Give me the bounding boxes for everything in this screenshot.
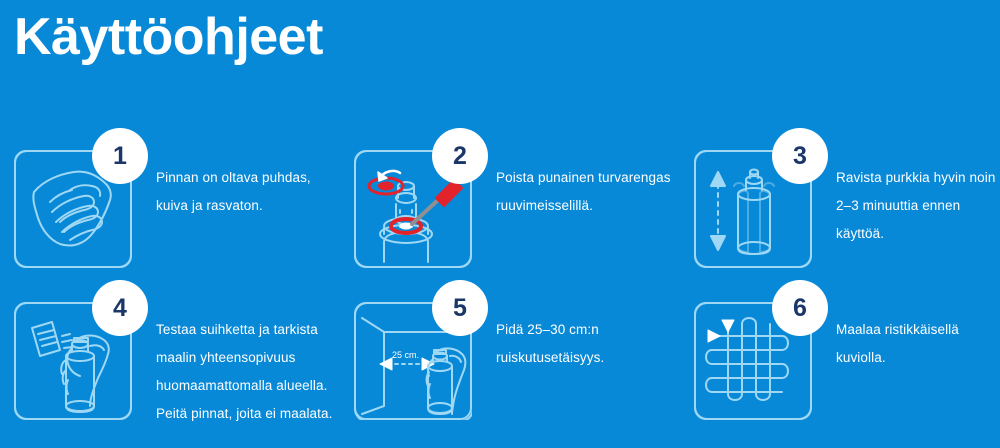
step-number-1: 1 bbox=[113, 144, 127, 169]
step-item-3: 3 Ravista purkkia hyvin noin 2–3 minuutt… bbox=[680, 128, 1000, 280]
step-number-badge-2: 2 bbox=[432, 128, 488, 184]
step-item-6: 6 Maalaa ristikkäisellä kuviolla. bbox=[680, 280, 1000, 440]
step-text-5: Pidä 25–30 cm:n ruiskutusetäisyys. bbox=[496, 316, 676, 372]
distance-label: 25 cm. bbox=[392, 350, 419, 360]
step-text-6: Maalaa ristikkäisellä kuviolla. bbox=[836, 316, 1000, 372]
step-item-5: 25 cm. bbox=[340, 280, 680, 440]
step-icon-wrap-4: 4 bbox=[14, 302, 132, 420]
step-item-1: 1 Pinnan on oltava puhdas, kuiva ja rasv… bbox=[0, 128, 340, 280]
step-text-3: Ravista purkkia hyvin noin 2–3 minuuttia… bbox=[836, 164, 1000, 248]
step-number-badge-5: 5 bbox=[432, 280, 488, 336]
step-icon-wrap-6: 6 bbox=[694, 302, 812, 420]
step-number-6: 6 bbox=[793, 296, 807, 321]
step-number-5: 5 bbox=[453, 296, 467, 321]
step-icon-wrap-1: 1 bbox=[14, 150, 132, 268]
step-icon-wrap-3: 3 bbox=[694, 150, 812, 268]
step-item-4: 4 Testaa suihketta ja tarkista maalin yh… bbox=[0, 280, 340, 440]
instructions-page: Käyttöohjeet 1 bbox=[0, 0, 1000, 448]
step-item-2: 2 Poista punainen turvarengas ruuvimeiss… bbox=[340, 128, 680, 280]
step-number-2: 2 bbox=[453, 144, 467, 169]
step-number-3: 3 bbox=[793, 144, 807, 169]
step-icon-wrap-5: 25 cm. bbox=[354, 302, 472, 420]
step-text-4: Testaa suihketta ja tarkista maalin yhte… bbox=[156, 316, 340, 428]
steps-grid: 1 Pinnan on oltava puhdas, kuiva ja rasv… bbox=[0, 128, 1000, 440]
step-number-4: 4 bbox=[113, 296, 127, 321]
step-text-1: Pinnan on oltava puhdas, kuiva ja rasvat… bbox=[156, 164, 336, 220]
page-title: Käyttöohjeet bbox=[14, 6, 323, 68]
step-number-badge-1: 1 bbox=[92, 128, 148, 184]
step-number-badge-6: 6 bbox=[772, 280, 828, 336]
step-number-badge-4: 4 bbox=[92, 280, 148, 336]
step-text-2: Poista punainen turvarengas ruuvimeissel… bbox=[496, 164, 676, 220]
step-number-badge-3: 3 bbox=[772, 128, 828, 184]
step-icon-wrap-2: 2 bbox=[354, 150, 472, 268]
